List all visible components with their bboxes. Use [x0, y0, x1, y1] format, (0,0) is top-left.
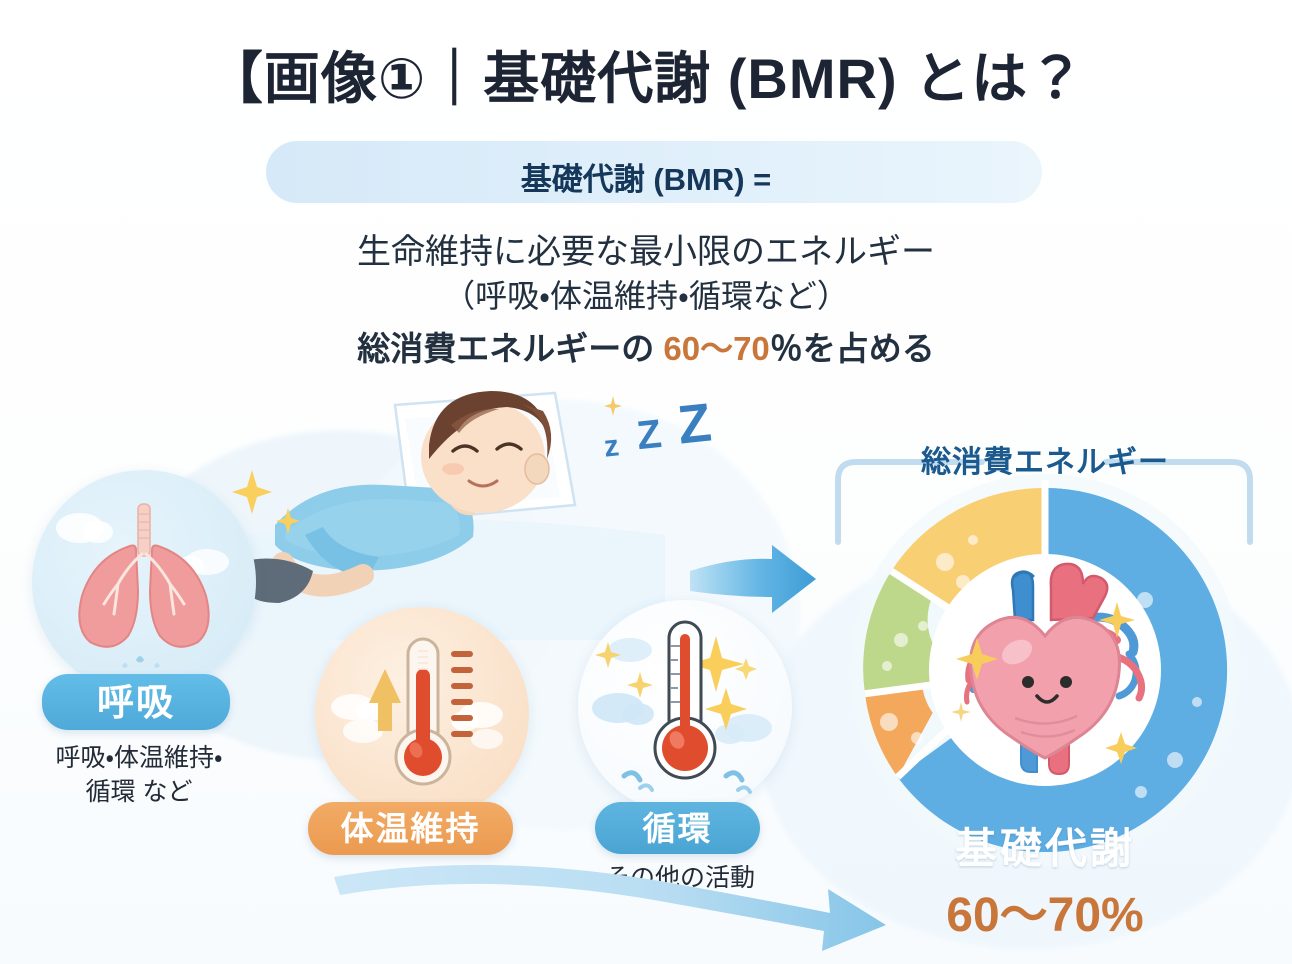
lungs-icon	[32, 470, 256, 694]
badge-temperature[interactable]: 体温維持	[308, 802, 513, 855]
lead-line-3-prefix: 総消費エネルギーの	[357, 330, 663, 367]
sparkle-icon	[276, 508, 300, 534]
arrow-curve-icon	[330, 855, 890, 960]
caption-breathing: 呼吸・体温維持・ 循環 など	[4, 742, 274, 810]
breathing-icon-circle	[32, 470, 256, 694]
total-energy-donut-chart	[845, 470, 1245, 870]
arrow-right-icon	[690, 535, 850, 645]
thermometer-up-icon	[315, 607, 529, 821]
lead-line-3: 総消費エネルギーの 60〜70％を占める	[0, 322, 1292, 370]
infographic-canvas: 【画像①｜基礎代謝 (BMR) とは？ 基礎代謝 (BMR) = 生命維持に必要…	[0, 0, 1292, 964]
sparkle-icon	[604, 396, 622, 416]
badge-circulation[interactable]: 循環	[595, 802, 760, 854]
lead-line-1: 生命維持に必要な最小限のエネルギー	[0, 224, 1292, 273]
lead-line-3-suffix: ％を占める	[770, 330, 935, 367]
definition-pill-label: 基礎代謝 (BMR) =	[0, 154, 1292, 199]
caption-breathing-line-1: 呼吸・体温維持・	[4, 742, 274, 776]
temperature-icon-circle	[315, 607, 529, 821]
zzz-icon: Z	[675, 391, 714, 456]
badge-breathing[interactable]: 呼吸	[42, 674, 230, 730]
page-title: 【画像①｜基礎代謝 (BMR) とは？	[0, 34, 1292, 115]
lead-line-2: （呼吸・体温維持・循環など）	[0, 271, 1292, 317]
caption-breathing-line-2: 循環 など	[4, 776, 274, 810]
zzz-icon: Z	[635, 412, 664, 459]
donut-percent-label: 60〜70%	[845, 875, 1245, 945]
lead-line-3-accent: 60〜70	[663, 330, 769, 367]
donut-bottom-label: 基礎代謝	[845, 815, 1245, 876]
